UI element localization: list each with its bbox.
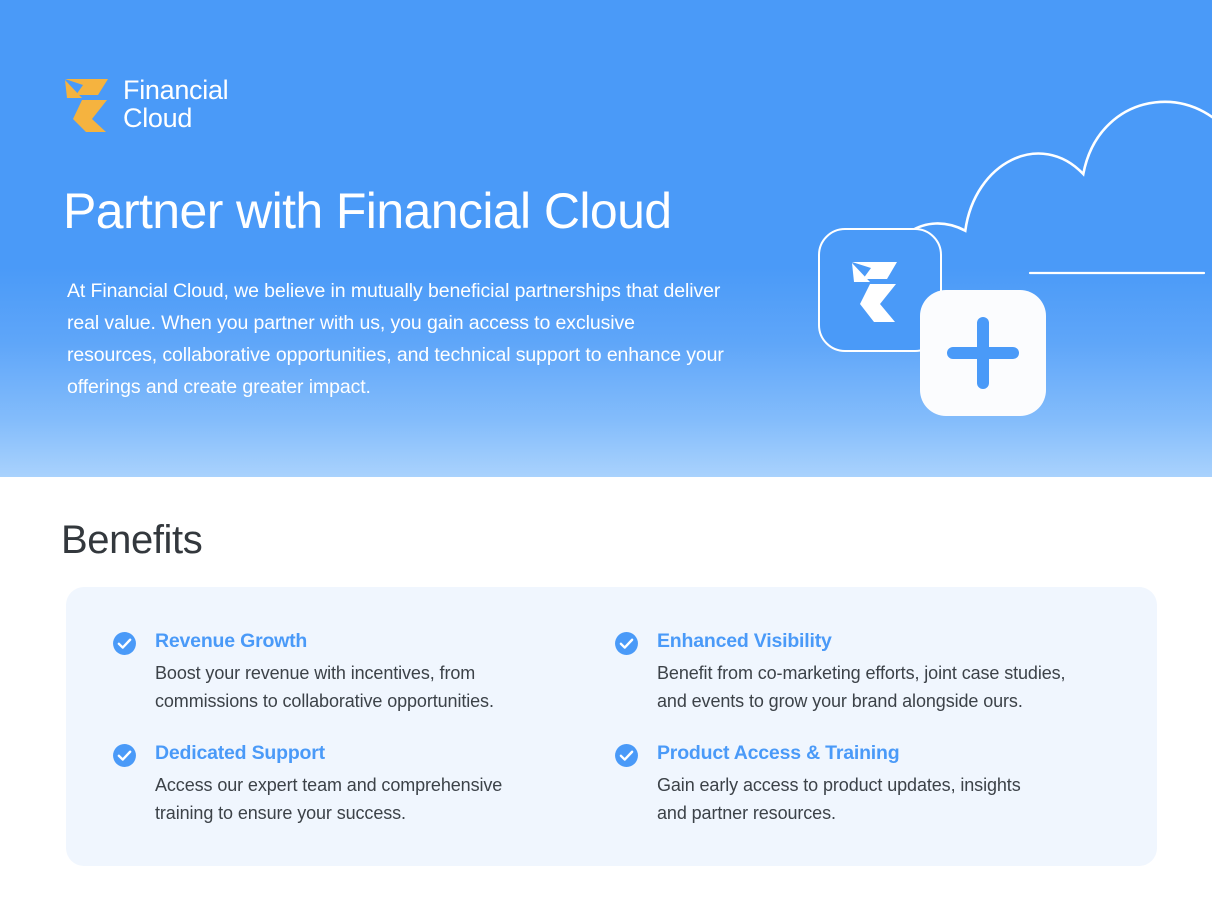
brand-logo[interactable]: Financial Cloud	[64, 76, 228, 132]
cloud-outline-icon	[885, 102, 1212, 280]
check-circle-icon	[112, 631, 137, 656]
benefits-section: Benefits Revenue Growth Boost your reven…	[0, 477, 1212, 904]
benefit-title: Dedicated Support	[155, 741, 614, 765]
benefit-item: Enhanced Visibility Benefit from co-mark…	[614, 629, 1116, 715]
benefits-grid: Revenue Growth Boost your revenue with i…	[112, 629, 1111, 827]
benefit-item: Product Access & Training Gain early acc…	[614, 741, 1116, 827]
brand-logo-line2: Cloud	[123, 103, 192, 133]
benefit-title: Product Access & Training	[657, 741, 1116, 765]
benefit-body: Dedicated Support Access our expert team…	[155, 741, 614, 827]
check-circle-icon	[614, 631, 639, 656]
brand-logo-text: Financial Cloud	[123, 76, 228, 132]
benefit-body: Revenue Growth Boost your revenue with i…	[155, 629, 614, 715]
check-circle-icon	[112, 743, 137, 768]
benefit-description: Benefit from co-marketing efforts, joint…	[657, 659, 1116, 715]
benefit-item: Dedicated Support Access our expert team…	[112, 741, 614, 827]
benefit-item: Revenue Growth Boost your revenue with i…	[112, 629, 614, 715]
financial-cloud-logo-mark	[64, 76, 111, 132]
hero-section: Financial Cloud Partner with Financial C…	[0, 0, 1212, 477]
benefit-body: Enhanced Visibility Benefit from co-mark…	[657, 629, 1116, 715]
hero-title: Partner with Financial Cloud	[63, 181, 672, 241]
benefits-heading: Benefits	[61, 515, 202, 565]
logo-tile	[819, 229, 941, 351]
hero-illustration	[792, 0, 1212, 477]
benefit-title: Enhanced Visibility	[657, 629, 1116, 653]
hero-subtitle: At Financial Cloud, we believe in mutual…	[67, 275, 727, 403]
benefits-card: Revenue Growth Boost your revenue with i…	[66, 587, 1157, 866]
plus-tile	[920, 290, 1046, 416]
benefit-description: Gain early access to product updates, in…	[657, 771, 1116, 827]
brand-logo-line1: Financial	[123, 75, 228, 105]
benefit-body: Product Access & Training Gain early acc…	[657, 741, 1116, 827]
benefit-description: Access our expert team and comprehensive…	[155, 771, 614, 827]
benefit-description: Boost your revenue with incentives, from…	[155, 659, 614, 715]
check-circle-icon	[614, 743, 639, 768]
benefit-title: Revenue Growth	[155, 629, 614, 653]
